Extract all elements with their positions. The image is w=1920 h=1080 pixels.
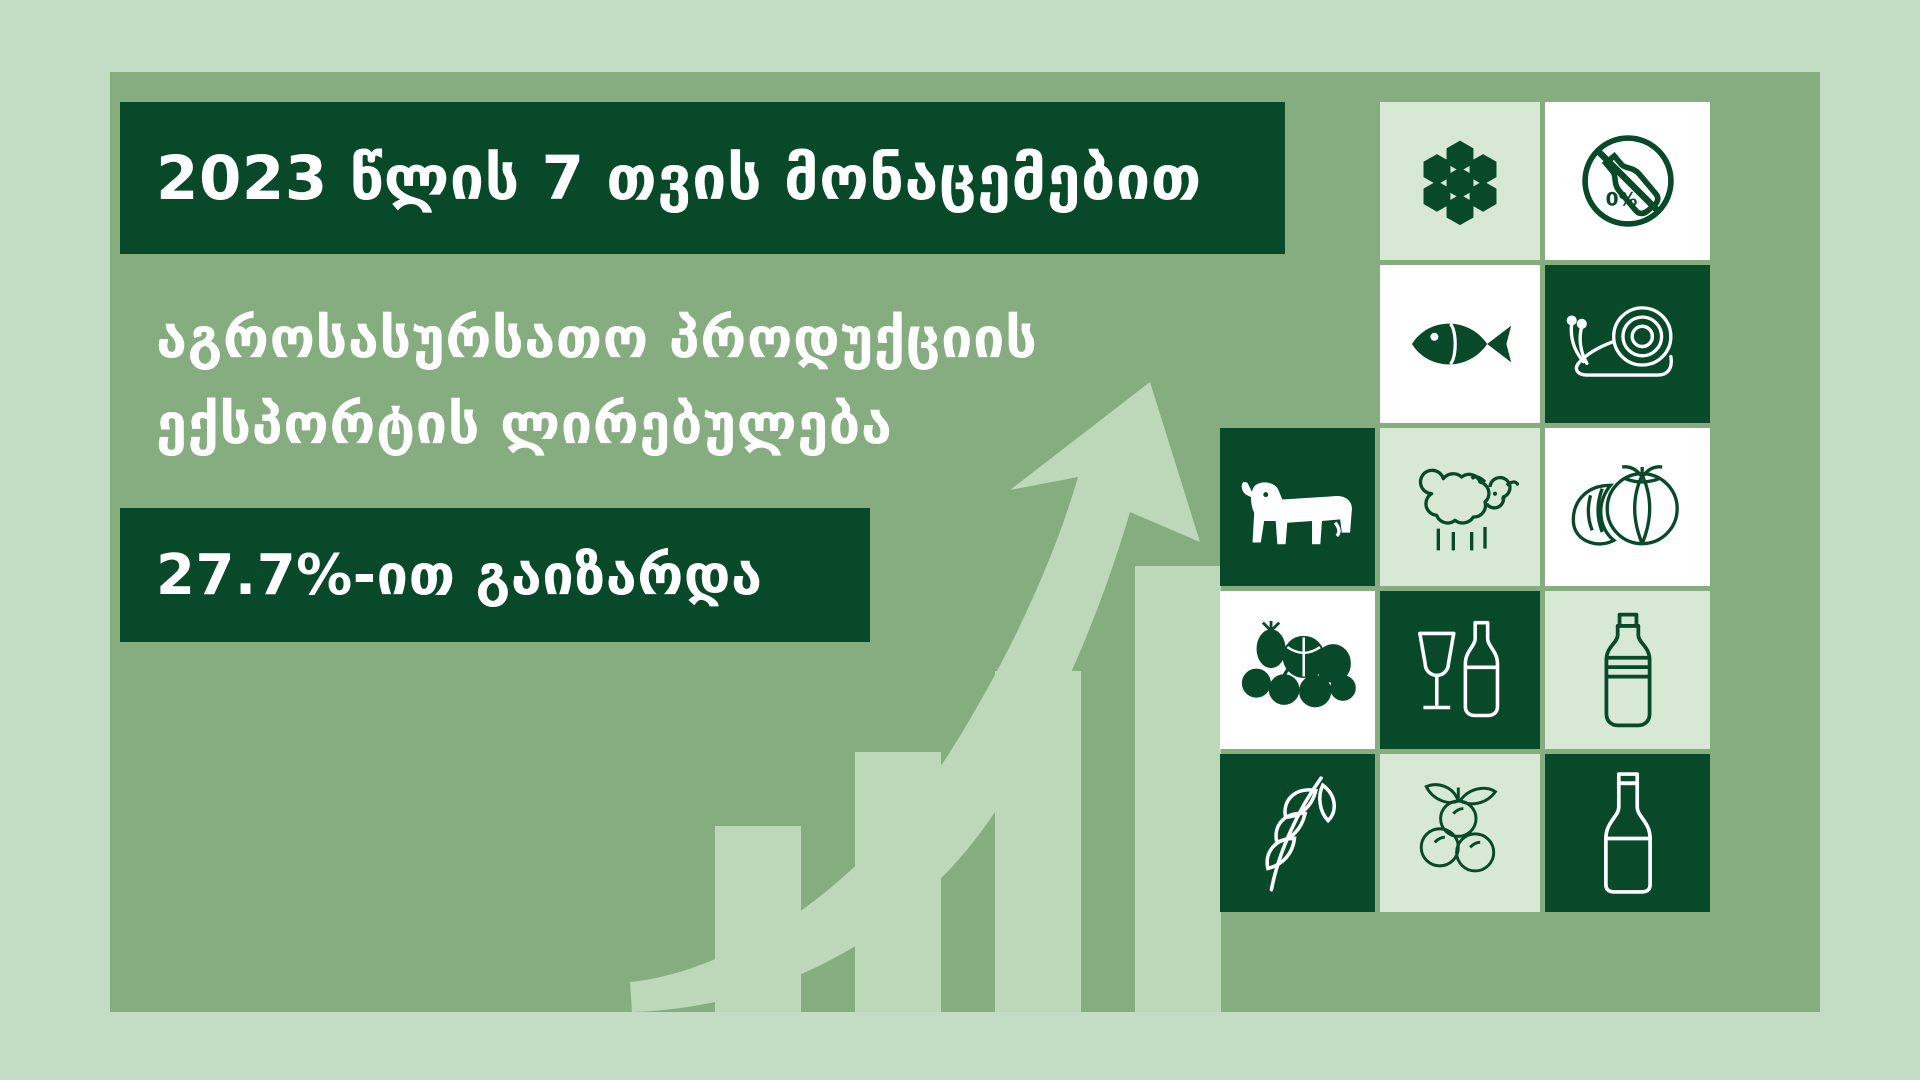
page-title: 2023 წლის 7 თვის მონაცემებით [120,143,1202,214]
tile-no-alcohol: 0% [1545,102,1710,260]
no-bottle-icon: 0% [1572,125,1684,237]
product-icon-grid: 0% [1220,102,1820,972]
water-bottle-icon [1590,609,1666,731]
tile-herb-branch [1220,754,1375,912]
honeycomb-icon [1412,133,1508,229]
berries-icon [1401,778,1519,888]
tile-tomato-melon [1545,428,1710,586]
subtitle-line-1: აგროსასურსათო პროდუქციის [156,296,1290,382]
tile-sheep [1380,428,1540,586]
tile-honeycomb [1380,102,1540,260]
tile-berries [1380,754,1540,912]
highlight-banner: 27.7%-ით გაიზარდა [120,508,870,642]
snail-icon [1565,296,1691,392]
chart-bar-3 [995,671,1081,1012]
subtitle-line-2: ექსპორტის ლირებულება [156,382,1290,468]
dark-bottle-icon [1593,770,1663,896]
chart-bar-2 [855,752,941,1012]
svg-text:0%: 0% [1605,189,1637,210]
herb-branch-icon [1243,771,1353,895]
tile-water-bottle [1545,591,1710,749]
tile-wine [1380,591,1540,749]
subtitle-block: აგროსასურსათო პროდუქციის ექსპორტის ლირებ… [120,296,1290,468]
title-banner: 2023 წლის 7 თვის მონაცემებით [120,102,1285,254]
tomato-melon-icon [1565,457,1691,557]
tile-fish [1380,265,1540,423]
fish-icon [1404,302,1516,386]
chart-bar-1 [715,826,801,1012]
wine-glass-bottle-icon [1402,612,1518,728]
tile-dark-bottle [1545,754,1710,912]
sheep-icon [1401,457,1519,557]
infographic-poster: 2023 წლის 7 თვის მონაცემებით აგროსასურსა… [110,72,1820,1012]
text-column: 2023 წლის 7 თვის მონაცემებით აგროსასურსა… [110,102,1290,642]
tile-snail [1545,265,1710,423]
highlight-value: 27.7%-ით გაიზარდა [120,543,763,608]
